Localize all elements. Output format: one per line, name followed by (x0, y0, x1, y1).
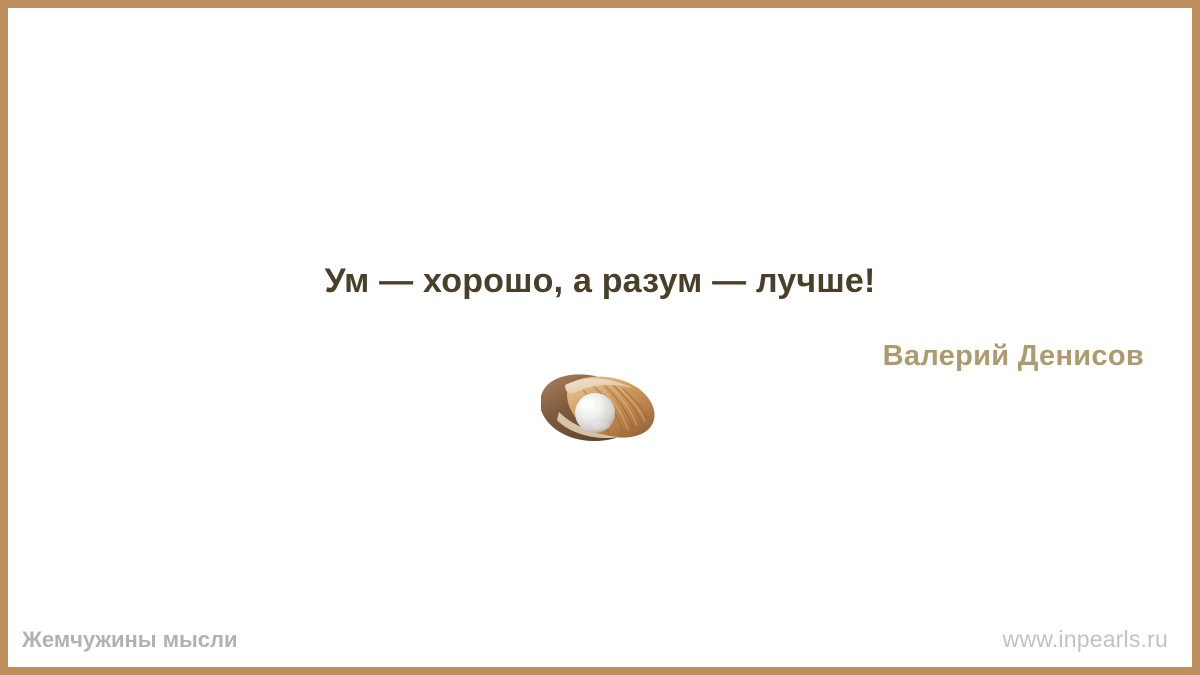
oyster-shell-with-pearl-icon (535, 366, 663, 444)
site-name: Жемчужины мысли (22, 627, 238, 653)
quote-text: Ум — хорошо, а разум — лучше! (0, 262, 1200, 301)
border-left (0, 0, 8, 675)
site-url[interactable]: www.inpearls.ru (1003, 626, 1168, 653)
border-right (1192, 0, 1200, 675)
quote-poster: Ум — хорошо, а разум — лучше! Валерий Де… (0, 0, 1200, 675)
border-bottom (0, 667, 1200, 675)
border-top (0, 0, 1200, 8)
quote-author: Валерий Денисов (883, 340, 1144, 373)
